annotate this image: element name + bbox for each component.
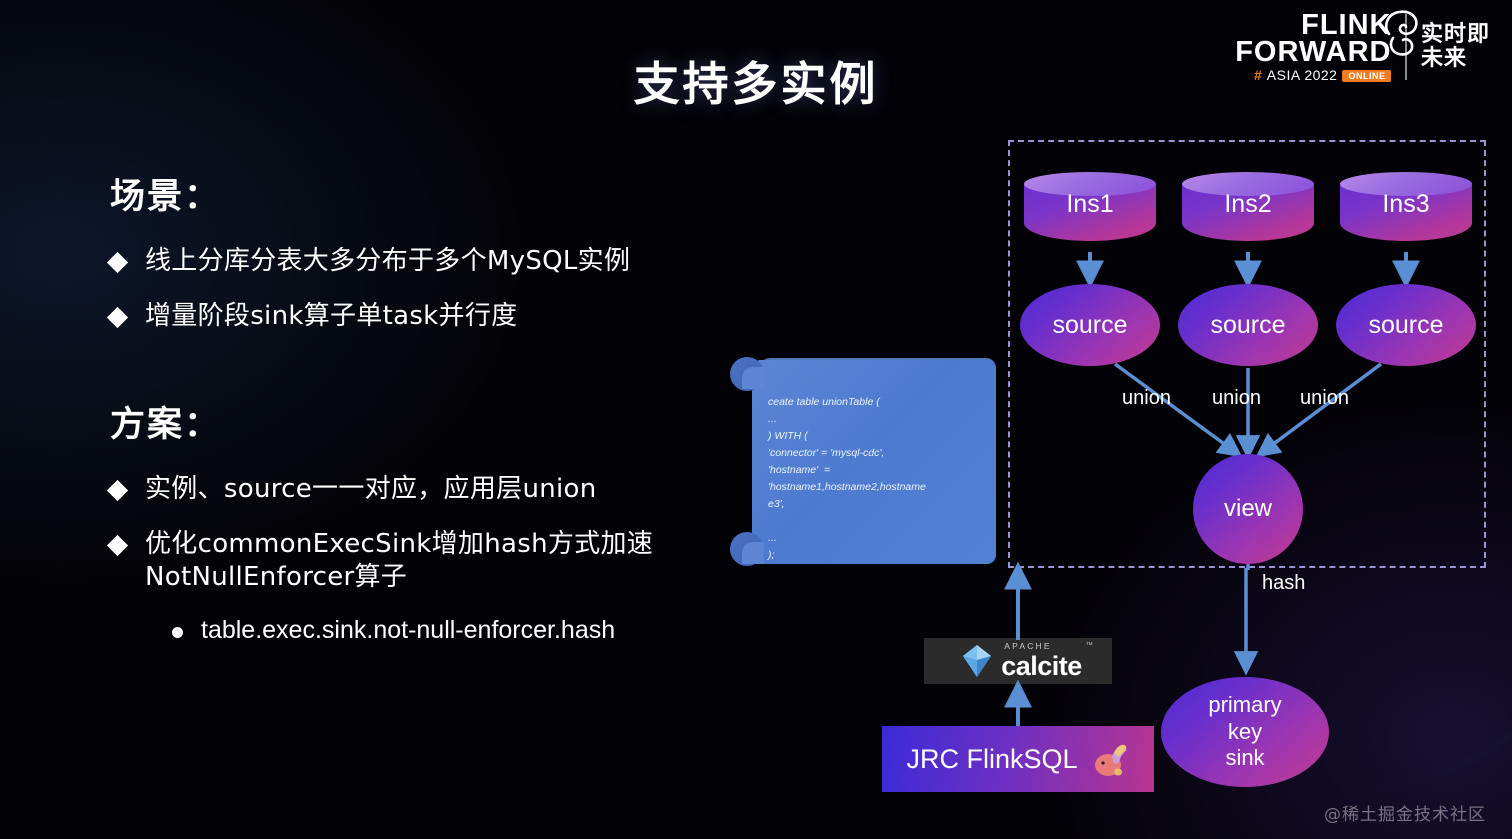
content-column: 场景： 线上分库分表大多分布于多个MySQL实例 增量阶段sink算子单task… [110,168,800,645]
view-label: view [1224,495,1272,523]
union-label: union [1122,387,1171,410]
source-label: source [1368,311,1443,340]
diamond-bullet-icon [107,252,128,273]
view-node: view [1193,454,1303,564]
list-item-label: 优化commonExecSink增加hash方式加速NotNullEnforce… [145,528,800,595]
scenario-bullet-list: 线上分库分表大多分布于多个MySQL实例 增量阶段sink算子单task并行度 [110,245,800,334]
slide-canvas: FLINK FORWARD # ASIA 2022 ONLINE 实时即 未来 … [0,0,1512,839]
sink-label-line-3: sink [1225,745,1264,772]
scroll-roll-top-icon [730,357,764,391]
calcite-wordmark: APACHE calcite ™ [1001,642,1082,680]
hash-label: hash [1262,572,1305,595]
diamond-icon [958,642,996,680]
list-subitem-label: table.exec.sink.not-null-enforcer.hash [201,616,615,645]
list-item: 增量阶段sink算子单task并行度 [110,300,800,333]
source-label: source [1210,311,1285,340]
jrc-flinksql-label: JRC FlinkSQL [906,744,1077,775]
source-node: source [1336,284,1476,366]
solution-heading: 方案： [110,396,800,447]
source-label: source [1052,311,1127,340]
source-node: source [1178,284,1318,366]
sink-label-line-1: primary [1208,692,1281,719]
list-item-label: 线上分库分表大多分布于多个MySQL实例 [145,245,630,278]
dot-bullet-icon [172,627,183,638]
watermark: @稀土掘金技术社区 [1324,800,1486,825]
primary-key-sink-node: primary key sink [1161,677,1329,787]
slogan-line-1: 实时即 [1421,23,1490,47]
list-subitem: table.exec.sink.not-null-enforcer.hash [172,616,800,645]
source-node: source [1020,284,1160,366]
diamond-bullet-icon [107,479,128,500]
list-item: 实例、source一一对应，应用层union [110,473,800,506]
diamond-bullet-icon [107,535,128,556]
calcite-apache-label: APACHE [1004,642,1052,651]
trademark-icon: ™ [1086,642,1093,649]
instance-label: Ins2 [1182,190,1314,219]
instance-label: Ins3 [1340,190,1472,219]
jrc-flinksql-bar: JRC FlinkSQL [882,726,1154,792]
sink-label-line-2: key [1228,719,1262,746]
calcite-name-label: calcite [1001,653,1082,680]
squirrel-mascot-icon [1090,739,1130,779]
list-item: 线上分库分表大多分布于多个MySQL实例 [110,245,800,278]
code-scroll-card: ceate table unionTable ( ... ) WITH ( 'c… [730,356,996,568]
union-label: union [1212,387,1261,410]
list-item-label: 增量阶段sink算子单task并行度 [145,300,517,333]
diamond-bullet-icon [107,307,128,328]
list-item: 优化commonExecSink增加hash方式加速NotNullEnforce… [110,528,800,595]
apache-calcite-logo: APACHE calcite ™ [924,638,1112,684]
list-item-label: 实例、source一一对应，应用层union [145,473,597,506]
scroll-roll-bottom-icon [730,532,764,566]
instance-node: Ins1 [1024,172,1156,250]
union-label: union [1300,387,1349,410]
sql-code-text: ceate table unionTable ( ... ) WITH ( 'c… [768,394,982,564]
architecture-diagram-boundary: Ins1 Ins2 Ins3 [1008,140,1486,568]
scenario-heading: 场景： [110,168,800,219]
instance-label: Ins1 [1024,190,1156,219]
instance-node: Ins2 [1182,172,1314,250]
instance-node: Ins3 [1340,172,1472,250]
page-title: 支持多实例 [0,48,1512,114]
solution-bullet-list: 实例、source一一对应，应用层union 优化commonExecSink增… [110,473,800,646]
